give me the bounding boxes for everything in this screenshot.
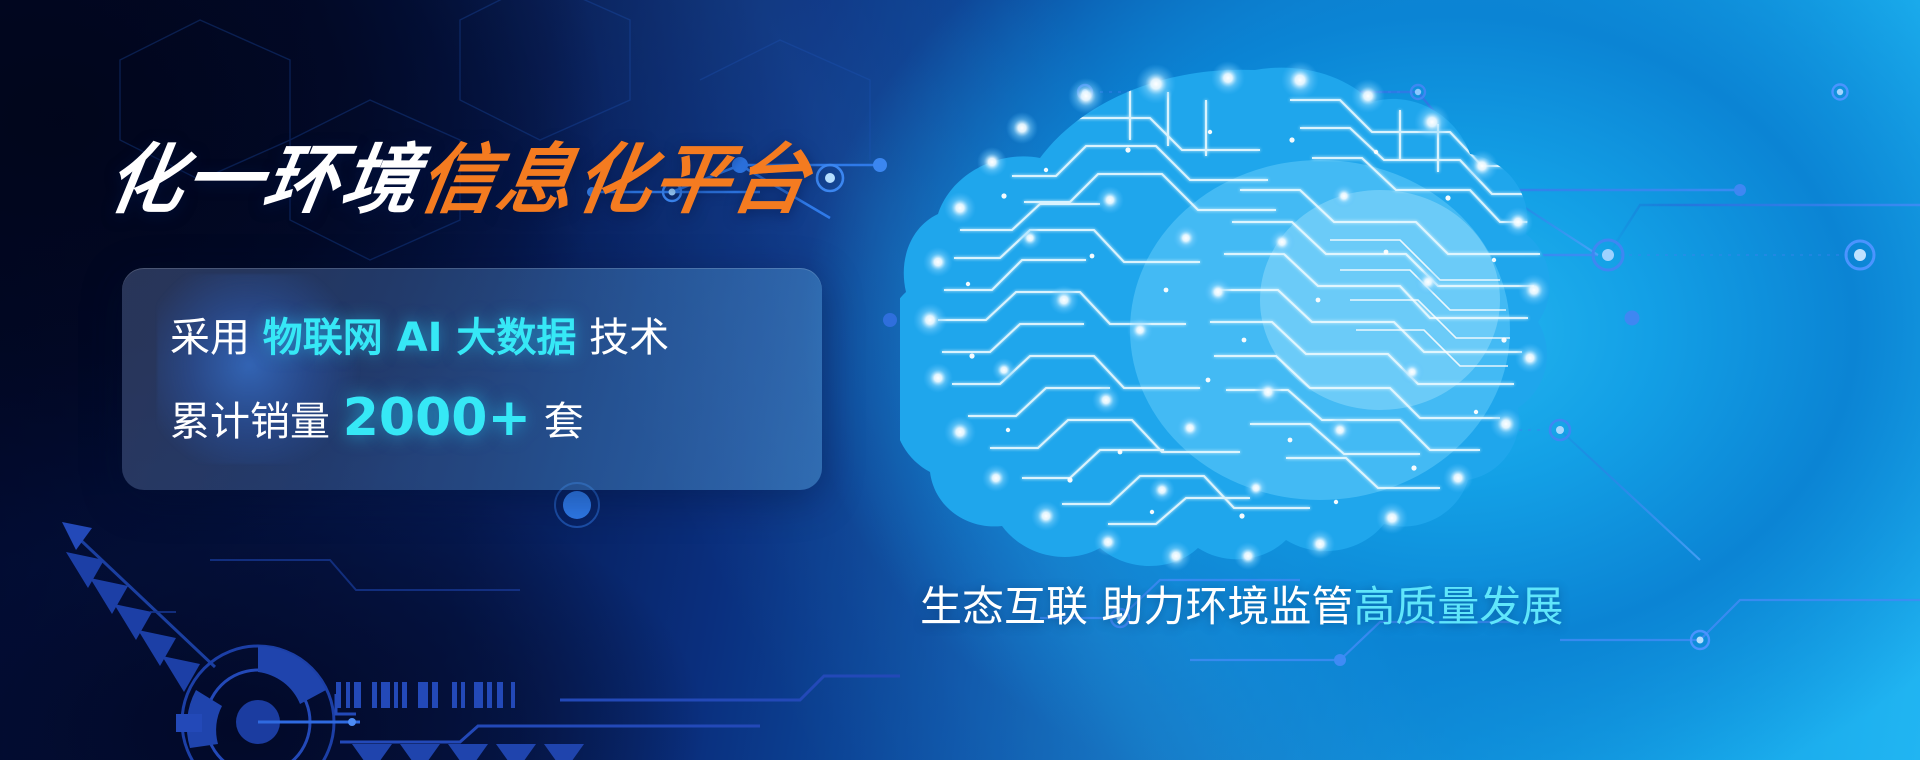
tech-prefix-label: 采用 <box>170 315 250 361</box>
feature-card: 采用 物联网 AI 大数据 技术 累计销量 2000+ 套 <box>122 268 822 490</box>
tagline-normal-text: 生态互联 助力环境监管 <box>920 582 1353 631</box>
tech-highlight-label: 物联网 AI 大数据 <box>263 315 577 361</box>
promo-banner: 化一环境信息化平台 采用 物联网 AI 大数据 技术 累计销量 2000+ 套 … <box>0 0 1920 760</box>
page-title: 化一环境信息化平台 <box>101 138 816 222</box>
feature-line-technology: 采用 物联网 AI 大数据 技术 <box>170 316 669 360</box>
page-title-white: 化一环境 <box>101 135 427 224</box>
tech-suffix-label: 技术 <box>589 315 669 361</box>
sales-prefix-label: 累计销量 <box>170 399 330 445</box>
sales-suffix-label: 套 <box>544 399 584 445</box>
feature-line-sales: 累计销量 2000+ 套 <box>170 396 584 444</box>
tagline: 生态互联 助力环境监管高质量发展 <box>920 582 1563 632</box>
sales-count-value: 2000+ <box>343 388 531 448</box>
brain-glow-halo <box>940 40 1620 510</box>
tagline-highlight-text: 高质量发展 <box>1353 582 1563 631</box>
page-title-orange: 信息化平台 <box>413 135 817 224</box>
